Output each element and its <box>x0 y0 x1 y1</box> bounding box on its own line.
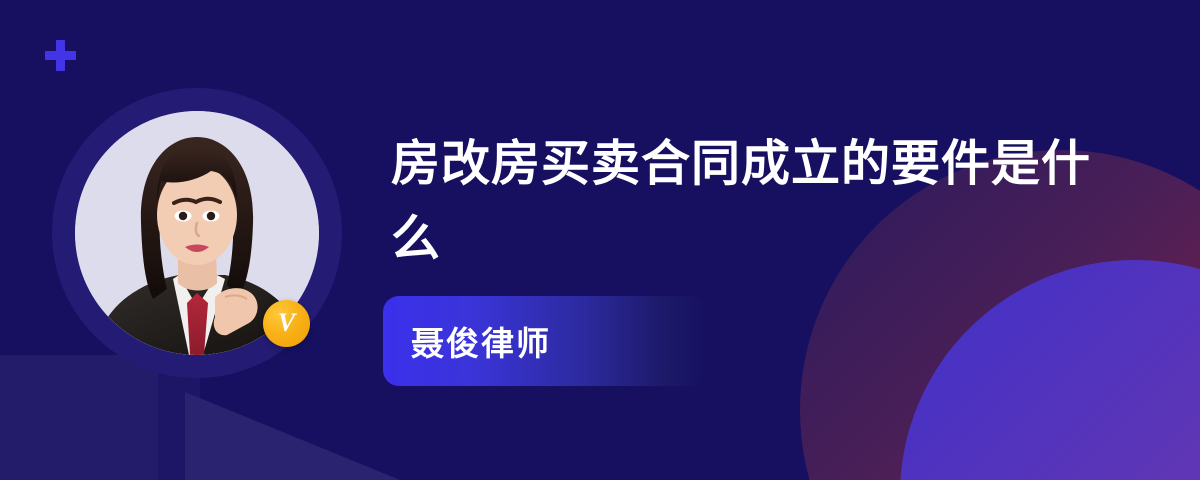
plus-icon <box>45 40 76 71</box>
banner-content: 房改房买卖合同成立的要件是什么 <box>391 126 1161 276</box>
lawyer-qa-banner: V 房改房买卖合同成立的要件是什么 聂俊律师 <box>0 0 1200 480</box>
avatar: V <box>52 88 342 378</box>
verified-badge-letter: V <box>278 310 295 336</box>
verified-badge-icon: V <box>263 300 310 347</box>
page-title: 房改房买卖合同成立的要件是什么 <box>391 126 1091 276</box>
lawyer-name-button[interactable]: 聂俊律师 <box>383 296 707 386</box>
background-shape-wedge <box>185 392 400 480</box>
